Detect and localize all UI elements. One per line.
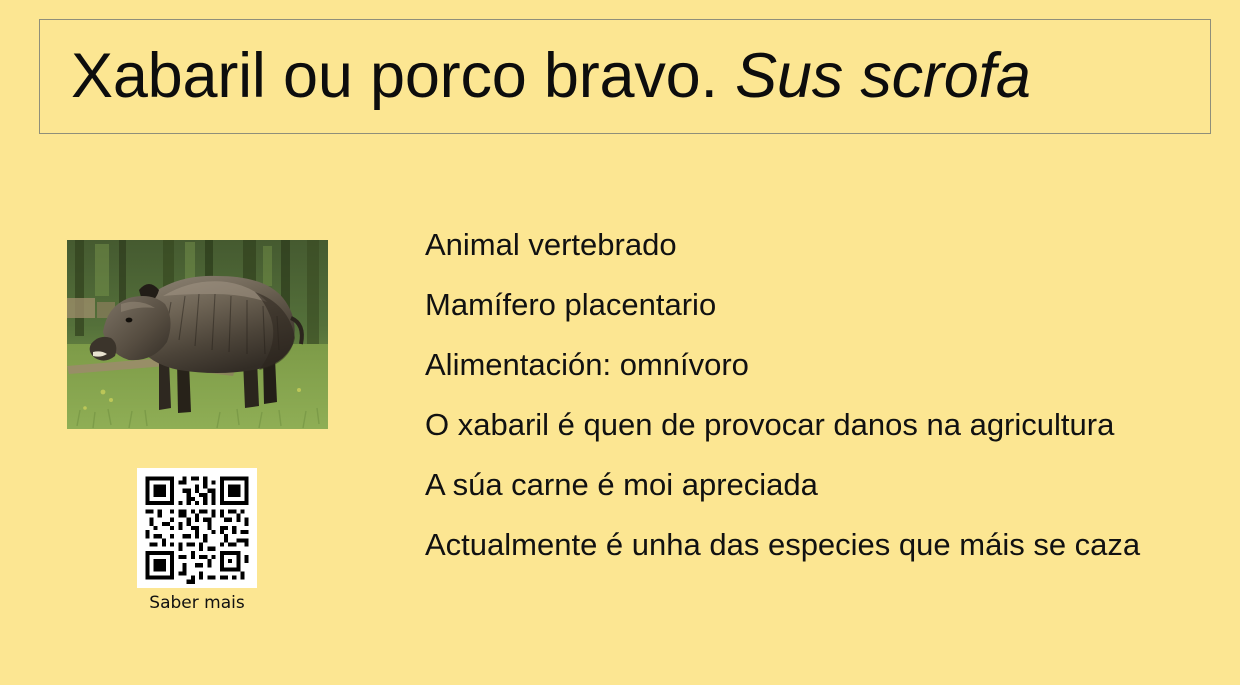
qr-caption: Saber mais [137,593,257,613]
qr-code[interactable] [137,468,257,588]
list-item: Alimentación: omnívoro [425,335,1215,395]
page-title: Xabaril ou porco bravo. Sus scrofa [40,43,1031,109]
wild-boar-photo [67,240,328,429]
list-item: Animal vertebrado [425,215,1215,275]
title-common-name: Xabaril ou porco bravo. [71,41,718,111]
title-box: Xabaril ou porco bravo. Sus scrofa [39,19,1211,134]
list-item: O xabaril é quen de provocar danos na ag… [425,395,1215,455]
title-scientific-name: Sus scrofa [718,41,1031,111]
list-item: Actualmente é unha das especies que máis… [425,515,1215,575]
slide-canvas: Xabaril ou porco bravo. Sus scrofa [0,0,1240,685]
fact-list: Animal vertebrado Mamífero placentario A… [425,215,1215,575]
list-item: A súa carne é moi apreciada [425,455,1215,515]
list-item: Mamífero placentario [425,275,1215,335]
qr-block[interactable]: Saber mais [137,468,257,613]
